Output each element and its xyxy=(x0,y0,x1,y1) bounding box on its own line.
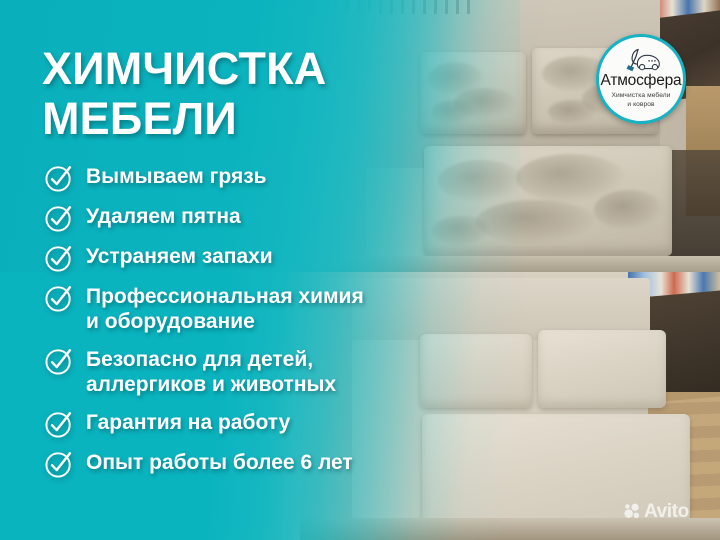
check-circle-icon xyxy=(44,449,74,479)
list-item-label: Опыт работы более 6 лет xyxy=(86,449,353,475)
list-item: Профессиональная химия и оборудование xyxy=(44,283,464,334)
list-item: Устраняем запахи xyxy=(44,243,464,273)
list-item-label: Устраняем запахи xyxy=(86,243,273,269)
avito-label: Avito xyxy=(644,502,689,521)
list-item-label: Вымываем грязь xyxy=(86,163,267,189)
benefits-list: Вымываем грязь Удаляем пятна xyxy=(44,163,464,489)
logo-company-name: Атмосфера xyxy=(601,73,682,89)
list-item: Гарантия на работу xyxy=(44,409,464,439)
list-item: Вымываем грязь xyxy=(44,163,464,193)
page-title: ХИМЧИСТКА МЕБЕЛИ xyxy=(42,44,326,144)
advertisement-poster: ХИМЧИСТКА МЕБЕЛИ Вымываем грязь xyxy=(0,0,720,540)
vacuum-cleaner-icon xyxy=(619,46,663,72)
check-circle-icon xyxy=(44,243,74,273)
avito-watermark: Avito xyxy=(624,502,689,521)
check-circle-icon xyxy=(44,283,74,313)
check-circle-icon xyxy=(44,409,74,439)
logo-tagline: Химчистка мебели и ковров xyxy=(612,91,671,109)
list-item-label: Гарантия на работу xyxy=(86,409,290,435)
check-circle-icon xyxy=(44,346,74,376)
list-item-label: Безопасно для детей, аллергиков и животн… xyxy=(86,346,336,397)
list-item-label: Профессиональная химия и оборудование xyxy=(86,283,364,334)
avito-dots-icon xyxy=(624,503,641,520)
poster-content: ХИМЧИСТКА МЕБЕЛИ Вымываем грязь xyxy=(0,0,720,540)
list-item: Опыт работы более 6 лет xyxy=(44,449,464,479)
list-item: Удаляем пятна xyxy=(44,203,464,233)
list-item-label: Удаляем пятна xyxy=(86,203,241,229)
company-logo-badge: Атмосфера Химчистка мебели и ковров xyxy=(596,34,686,124)
check-circle-icon xyxy=(44,203,74,233)
check-circle-icon xyxy=(44,163,74,193)
list-item: Безопасно для детей, аллергиков и животн… xyxy=(44,346,464,397)
